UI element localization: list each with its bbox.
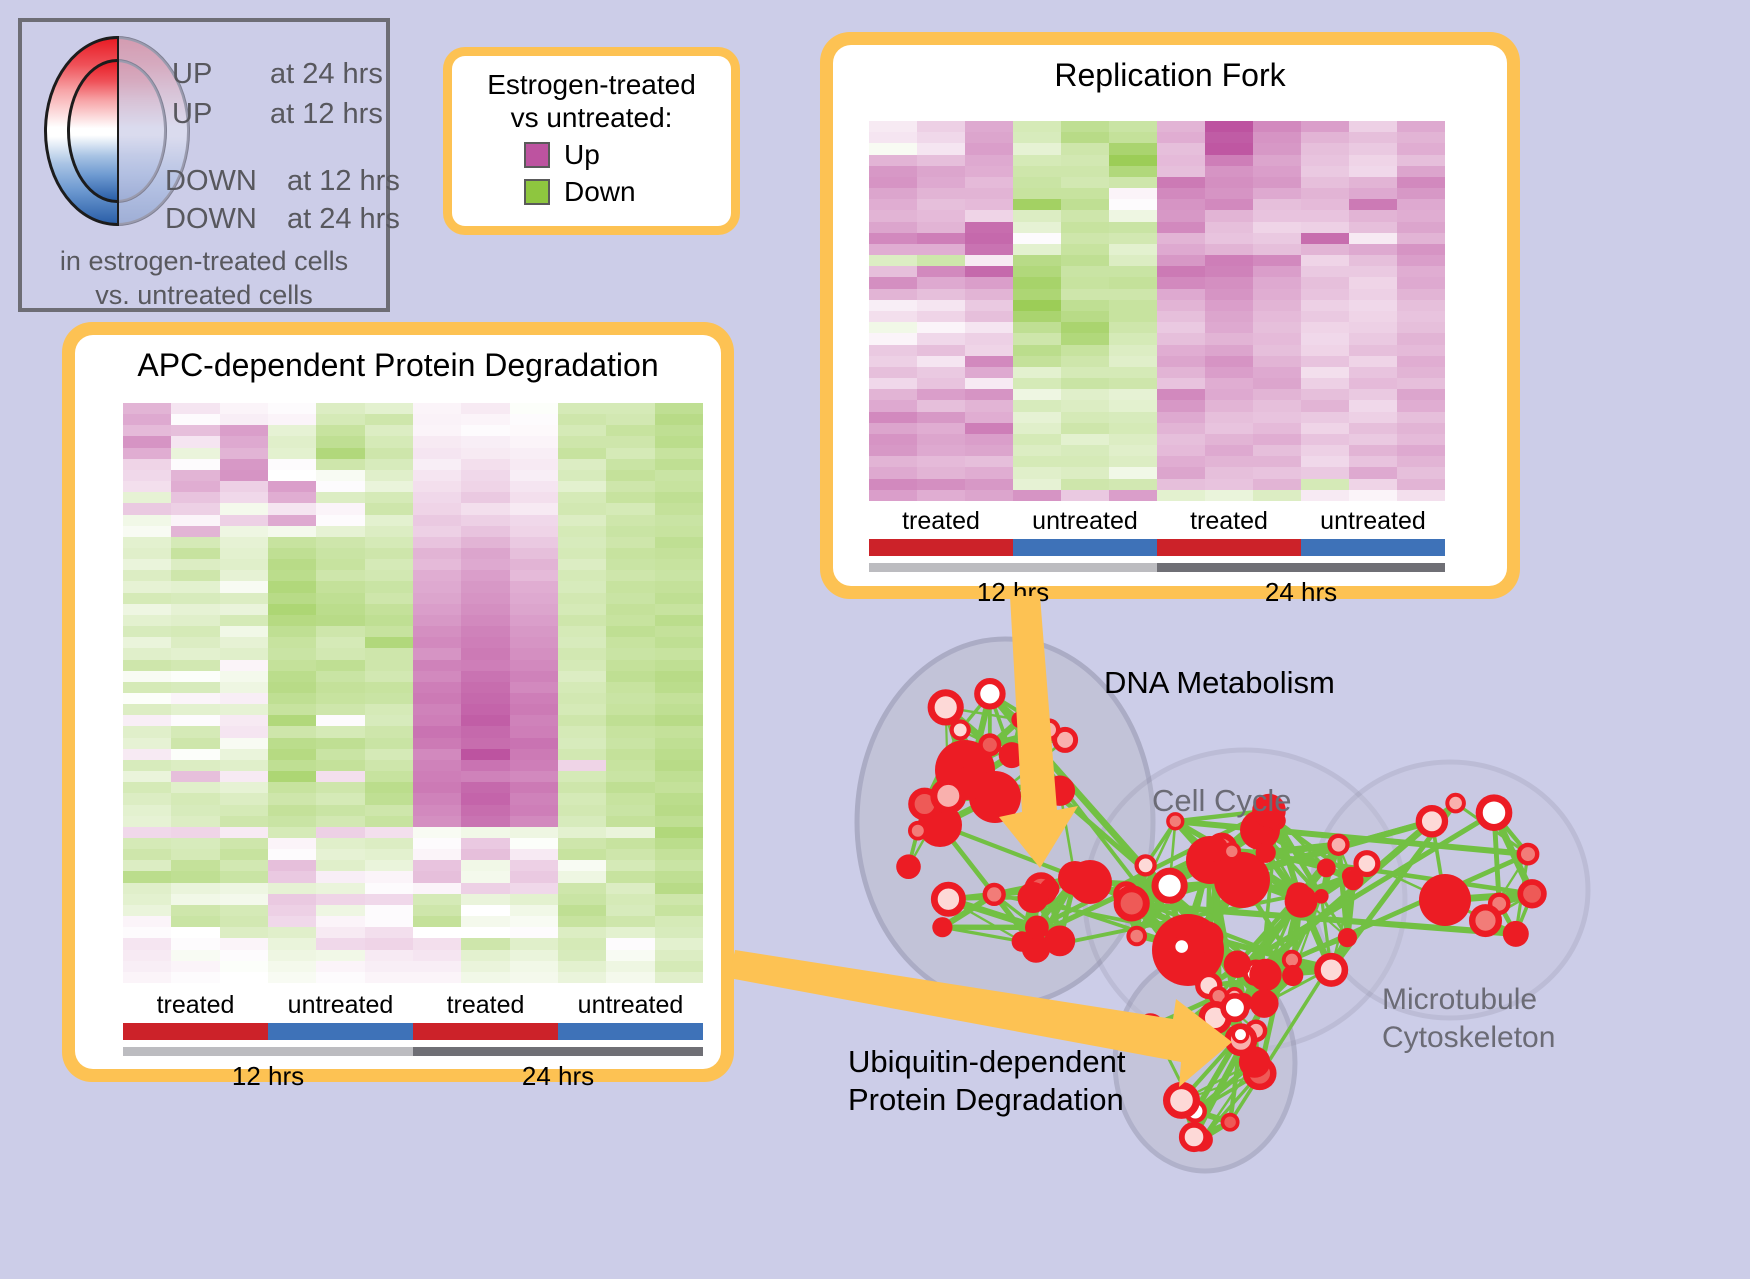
heatmap-cell <box>171 570 219 581</box>
heatmap-cell <box>558 570 606 581</box>
heatmap-cell <box>365 470 413 481</box>
heatmap-cell <box>917 289 965 300</box>
heatmap-cell <box>965 121 1013 132</box>
heatmap-cell <box>1301 166 1349 177</box>
legend-key-up: Up <box>452 139 731 171</box>
heatmap-cell <box>123 715 171 726</box>
heatmap-cell <box>413 927 461 938</box>
heatmap-cell <box>171 481 219 492</box>
heatmap-cell <box>1253 177 1301 188</box>
heatmap-cell <box>220 648 268 659</box>
heatmap-cell <box>965 166 1013 177</box>
panel-replication-fork: Replication Fork treateduntreatedtreated… <box>820 32 1520 599</box>
heatmap-cell <box>461 660 509 671</box>
heatmap-cell <box>1397 277 1445 288</box>
heatmap-cell <box>655 559 703 570</box>
heatmap-cell <box>171 626 219 637</box>
heatmap-cell <box>1205 389 1253 400</box>
heatmap-cell <box>461 459 509 470</box>
heatmap-cell <box>220 615 268 626</box>
heatmap-cell <box>1397 155 1445 166</box>
heatmap-cell <box>655 593 703 604</box>
heatmap-cell <box>869 266 917 277</box>
heatmap-cell <box>965 490 1013 501</box>
heatmap-cell <box>558 559 606 570</box>
heatmap-cell <box>510 526 558 537</box>
heatmap-cell <box>1109 177 1157 188</box>
heatmap-cell <box>558 782 606 793</box>
network-node <box>1503 921 1529 947</box>
heatmap-cell <box>510 593 558 604</box>
heatmap-cell <box>365 548 413 559</box>
heatmap-cell <box>965 277 1013 288</box>
heatmap-cell <box>461 515 509 526</box>
timepoint-label: 24 hrs <box>413 1061 703 1092</box>
heatmap-cell <box>606 526 654 537</box>
heatmap-cell <box>606 682 654 693</box>
timepoint-color-segment <box>1157 563 1445 572</box>
network-node <box>1249 959 1281 991</box>
heatmap-cell <box>365 838 413 849</box>
heatmap-cell <box>171 704 219 715</box>
heatmap-cell <box>1301 244 1349 255</box>
heatmap-cell <box>606 660 654 671</box>
heatmap-cell <box>461 961 509 972</box>
heatmap-cell <box>268 403 316 414</box>
heatmap-cell <box>365 648 413 659</box>
replication-treatment-colorbar <box>869 539 1445 556</box>
heatmap-cell <box>123 782 171 793</box>
heatmap-cell <box>655 570 703 581</box>
heatmap-cell <box>606 448 654 459</box>
heatmap-cell <box>655 492 703 503</box>
heatmap-cell <box>869 210 917 221</box>
network-node <box>1117 889 1146 918</box>
heatmap-cell <box>316 548 364 559</box>
heatmap-cell <box>869 121 917 132</box>
heatmap-cell <box>1013 445 1061 456</box>
heatmap-cell <box>1349 412 1397 423</box>
heatmap-cell <box>1349 199 1397 210</box>
network-node <box>1317 859 1336 878</box>
heatmap-cell <box>268 604 316 615</box>
heatmap-cell <box>1301 400 1349 411</box>
heatmap-cell <box>413 414 461 425</box>
heatmap-cell <box>1205 233 1253 244</box>
heatmap-cell <box>365 793 413 804</box>
heatmap-cell <box>365 436 413 447</box>
heatmap-cell <box>268 648 316 659</box>
heatmap-cell <box>268 548 316 559</box>
heatmap-cell <box>316 593 364 604</box>
heatmap-cell <box>917 132 965 143</box>
heatmap-cell <box>123 916 171 927</box>
heatmap-cell <box>461 782 509 793</box>
heatmap-cell <box>461 838 509 849</box>
heatmap-cell <box>461 894 509 905</box>
heatmap-cell <box>316 526 364 537</box>
heatmap-cell <box>316 425 364 436</box>
heatmap-cell <box>1157 400 1205 411</box>
heatmap-cell <box>1109 300 1157 311</box>
heatmap-cell <box>510 726 558 737</box>
heatmap-cell <box>1397 143 1445 154</box>
heatmap-cell <box>558 771 606 782</box>
heatmap-cell <box>413 738 461 749</box>
network-node <box>999 742 1025 768</box>
heatmap-cell <box>1349 434 1397 445</box>
heatmap-cell <box>1109 266 1157 277</box>
heatmap-cell <box>655 403 703 414</box>
legend-direction-up-24: UP <box>172 58 212 91</box>
heatmap-cell <box>1301 255 1349 266</box>
heatmap-cell <box>510 459 558 470</box>
heatmap-cell <box>123 749 171 760</box>
heatmap-cell <box>655 503 703 514</box>
heatmap-cell <box>1061 121 1109 132</box>
heatmap-cell <box>869 345 917 356</box>
heatmap-cell <box>965 356 1013 367</box>
heatmap-cell <box>1253 222 1301 233</box>
heatmap-cell <box>220 726 268 737</box>
heatmap-cell <box>316 961 364 972</box>
heatmap-cell <box>965 367 1013 378</box>
heatmap-cell <box>123 648 171 659</box>
heatmap-cell <box>606 883 654 894</box>
heatmap-cell <box>413 660 461 671</box>
heatmap-cell <box>1349 367 1397 378</box>
network-node <box>1224 951 1251 978</box>
heatmap-cell <box>1109 222 1157 233</box>
heatmap-cell <box>1349 188 1397 199</box>
heatmap-cell <box>965 289 1013 300</box>
updown-title-line1: Estrogen-treated <box>452 68 731 101</box>
heatmap-cell <box>413 492 461 503</box>
sample-group-label: treated <box>123 991 268 1020</box>
heatmap-cell <box>1205 188 1253 199</box>
heatmap-cell <box>917 210 965 221</box>
heatmap-cell <box>655 660 703 671</box>
heatmap-cell <box>510 682 558 693</box>
heatmap-cell <box>413 816 461 827</box>
heatmap-cell <box>510 436 558 447</box>
heatmap-cell <box>1253 412 1301 423</box>
heatmap-cell <box>965 467 1013 478</box>
heatmap-cell <box>510 961 558 972</box>
heatmap-cell <box>510 894 558 905</box>
heatmap-cell <box>1349 255 1397 266</box>
heatmap-cell <box>268 738 316 749</box>
heatmap-cell <box>965 199 1013 210</box>
heatmap-cell <box>268 715 316 726</box>
heatmap-cell <box>558 604 606 615</box>
heatmap-cell <box>365 972 413 983</box>
heatmap-cell <box>917 434 965 445</box>
heatmap-cell <box>606 715 654 726</box>
down-color-swatch <box>524 179 550 205</box>
heatmap-cell <box>316 916 364 927</box>
heatmap-cell <box>1205 210 1253 221</box>
heatmap-cell <box>365 559 413 570</box>
heatmap-cell <box>413 760 461 771</box>
heatmap-cell <box>917 244 965 255</box>
heatmap-cell <box>365 515 413 526</box>
heatmap-cell <box>413 537 461 548</box>
apc-treatment-colorbar <box>123 1023 703 1040</box>
network-node <box>1192 921 1224 953</box>
network-node <box>1479 798 1509 828</box>
heatmap-cell <box>917 356 965 367</box>
heatmap-cell <box>461 481 509 492</box>
heatmap-cell <box>558 581 606 592</box>
heatmap-cell <box>413 693 461 704</box>
heatmap-cell <box>268 448 316 459</box>
heatmap-cell <box>655 425 703 436</box>
heatmap-cell <box>220 481 268 492</box>
heatmap-cell <box>461 916 509 927</box>
heatmap-cell <box>869 277 917 288</box>
heatmap-cell <box>413 548 461 559</box>
heatmap-cell <box>1061 333 1109 344</box>
treatment-color-segment <box>268 1023 413 1040</box>
heatmap-cell <box>171 593 219 604</box>
heatmap-cell <box>413 961 461 972</box>
heatmap-cell <box>413 771 461 782</box>
heatmap-cell <box>171 793 219 804</box>
heatmap-cell <box>510 615 558 626</box>
timepoint-color-segment <box>413 1047 703 1056</box>
heatmap-cell <box>869 479 917 490</box>
heatmap-cell <box>655 771 703 782</box>
heatmap-cell <box>606 972 654 983</box>
heatmap-cell <box>655 961 703 972</box>
heatmap-cell <box>1349 244 1397 255</box>
heatmap-cell <box>220 871 268 882</box>
heatmap-cell <box>413 894 461 905</box>
heatmap-cell <box>869 456 917 467</box>
heatmap-cell <box>365 604 413 615</box>
heatmap-cell <box>220 749 268 760</box>
heatmap-cell <box>365 827 413 838</box>
heatmap-cell <box>316 738 364 749</box>
heatmap-cell <box>655 648 703 659</box>
heatmap-cell <box>171 403 219 414</box>
heatmap-cell <box>316 849 364 860</box>
heatmap-cell <box>510 715 558 726</box>
heatmap-cell <box>1301 456 1349 467</box>
heatmap-cell <box>268 593 316 604</box>
heatmap-cell <box>413 726 461 737</box>
heatmap-cell <box>558 916 606 927</box>
heatmap-cell <box>965 233 1013 244</box>
heatmap-cell <box>965 345 1013 356</box>
heatmap-cell <box>220 715 268 726</box>
heatmap-cell <box>220 961 268 972</box>
heatmap-cell <box>316 637 364 648</box>
heatmap-cell <box>1061 322 1109 333</box>
heatmap-cell <box>558 660 606 671</box>
heatmap-cell <box>461 816 509 827</box>
heatmap-cell <box>606 950 654 961</box>
heatmap-cell <box>123 838 171 849</box>
heatmap-cell <box>123 704 171 715</box>
network-node <box>1223 1115 1238 1130</box>
heatmap-cell <box>365 961 413 972</box>
heatmap-cell <box>1301 300 1349 311</box>
heatmap-cell <box>316 827 364 838</box>
heatmap-cell <box>1349 345 1397 356</box>
heatmap-cell <box>461 648 509 659</box>
heatmap-cell <box>123 559 171 570</box>
network-node <box>934 885 962 913</box>
heatmap-cell <box>171 905 219 916</box>
network-node <box>1419 874 1471 926</box>
heatmap-cell <box>123 581 171 592</box>
network-node <box>1150 1032 1172 1054</box>
heatmap-cell <box>461 671 509 682</box>
heatmap-cell <box>965 222 1013 233</box>
heatmap-cell <box>1253 166 1301 177</box>
heatmap-cell <box>1397 333 1445 344</box>
heatmap-cell <box>655 671 703 682</box>
heatmap-cell <box>365 448 413 459</box>
heatmap-cell <box>655 414 703 425</box>
heatmap-cell <box>1013 412 1061 423</box>
heatmap-cell <box>1013 277 1061 288</box>
heatmap-cell <box>917 445 965 456</box>
heatmap-cell <box>1397 356 1445 367</box>
heatmap-cell <box>268 436 316 447</box>
heatmap-cell <box>1349 132 1397 143</box>
heatmap-cell <box>869 177 917 188</box>
heatmap-cell <box>1013 389 1061 400</box>
heatmap-cell <box>461 414 509 425</box>
network-node <box>1330 836 1348 854</box>
heatmap-cell <box>1061 490 1109 501</box>
heatmap-cell <box>965 412 1013 423</box>
heatmap-cell <box>510 448 558 459</box>
heatmap-cell <box>1157 367 1205 378</box>
heatmap-cell <box>606 604 654 615</box>
heatmap-cell <box>171 671 219 682</box>
heatmap-cell <box>171 726 219 737</box>
heatmap-cell <box>1109 333 1157 344</box>
heatmap-cell <box>1301 378 1349 389</box>
heatmap-cell <box>461 793 509 804</box>
heatmap-cell <box>558 905 606 916</box>
heatmap-cell <box>558 492 606 503</box>
heatmap-cell <box>869 378 917 389</box>
heatmap-cell <box>1301 412 1349 423</box>
heatmap-cell <box>1397 311 1445 322</box>
heatmap-cell <box>1253 255 1301 266</box>
heatmap-cell <box>268 459 316 470</box>
heatmap-cell <box>606 771 654 782</box>
heatmap-cell <box>316 927 364 938</box>
heatmap-cell <box>1349 155 1397 166</box>
apc-heatmap <box>123 403 703 983</box>
heatmap-cell <box>1061 367 1109 378</box>
heatmap-cell <box>171 448 219 459</box>
heatmap-cell <box>1301 311 1349 322</box>
heatmap-cell <box>510 581 558 592</box>
heatmap-cell <box>268 414 316 425</box>
heatmap-cell <box>171 950 219 961</box>
heatmap-cell <box>606 671 654 682</box>
heatmap-cell <box>268 559 316 570</box>
legend-time-down-24: at 24 hrs <box>287 203 400 236</box>
heatmap-cell <box>171 470 219 481</box>
heatmap-cell <box>123 503 171 514</box>
replication-fork-heatmap <box>869 121 1445 501</box>
heatmap-cell <box>461 905 509 916</box>
heatmap-cell <box>558 448 606 459</box>
heatmap-cell <box>268 793 316 804</box>
heatmap-cell <box>171 972 219 983</box>
heatmap-cell <box>558 760 606 771</box>
heatmap-cell <box>413 448 461 459</box>
heatmap-cell <box>365 425 413 436</box>
heatmap-cell <box>461 715 509 726</box>
heatmap-cell <box>365 626 413 637</box>
heatmap-cell <box>413 849 461 860</box>
heatmap-cell <box>1061 233 1109 244</box>
heatmap-cell <box>365 771 413 782</box>
heatmap-cell <box>1013 345 1061 356</box>
heatmap-cell <box>268 581 316 592</box>
heatmap-cell <box>123 927 171 938</box>
heatmap-cell <box>1061 389 1109 400</box>
heatmap-cell <box>917 300 965 311</box>
heatmap-cell <box>655 871 703 882</box>
heatmap-cell <box>655 481 703 492</box>
heatmap-cell <box>1253 155 1301 166</box>
heatmap-cell <box>171 615 219 626</box>
heatmap-cell <box>268 570 316 581</box>
heatmap-cell <box>220 559 268 570</box>
heatmap-cell <box>365 860 413 871</box>
heatmap-cell <box>461 470 509 481</box>
heatmap-cell <box>655 860 703 871</box>
heatmap-cell <box>1061 266 1109 277</box>
network-node <box>1520 882 1544 906</box>
heatmap-cell <box>123 637 171 648</box>
heatmap-cell <box>606 570 654 581</box>
heatmap-cell <box>965 177 1013 188</box>
heatmap-cell <box>1301 199 1349 210</box>
heatmap-cell <box>413 470 461 481</box>
heatmap-cell <box>558 526 606 537</box>
heatmap-cell <box>123 771 171 782</box>
heatmap-cell <box>365 526 413 537</box>
heatmap-cell <box>1157 143 1205 154</box>
heatmap-cell <box>1301 467 1349 478</box>
heatmap-cell <box>1349 423 1397 434</box>
heatmap-cell <box>1253 445 1301 456</box>
apc-timepoint-labels: 12 hrs24 hrs <box>123 1061 703 1092</box>
heatmap-cell <box>220 537 268 548</box>
cluster-label-microtubule-cytoskeleton: Microtubule Cytoskeleton <box>1382 981 1555 1056</box>
heatmap-cell <box>1253 121 1301 132</box>
heatmap-cell <box>1061 479 1109 490</box>
heatmap-cell <box>1157 467 1205 478</box>
heatmap-cell <box>461 637 509 648</box>
heatmap-cell <box>413 682 461 693</box>
heatmap-cell <box>1397 244 1445 255</box>
heatmap-cell <box>316 648 364 659</box>
heatmap-cell <box>917 423 965 434</box>
sample-group-label: untreated <box>1301 507 1445 536</box>
